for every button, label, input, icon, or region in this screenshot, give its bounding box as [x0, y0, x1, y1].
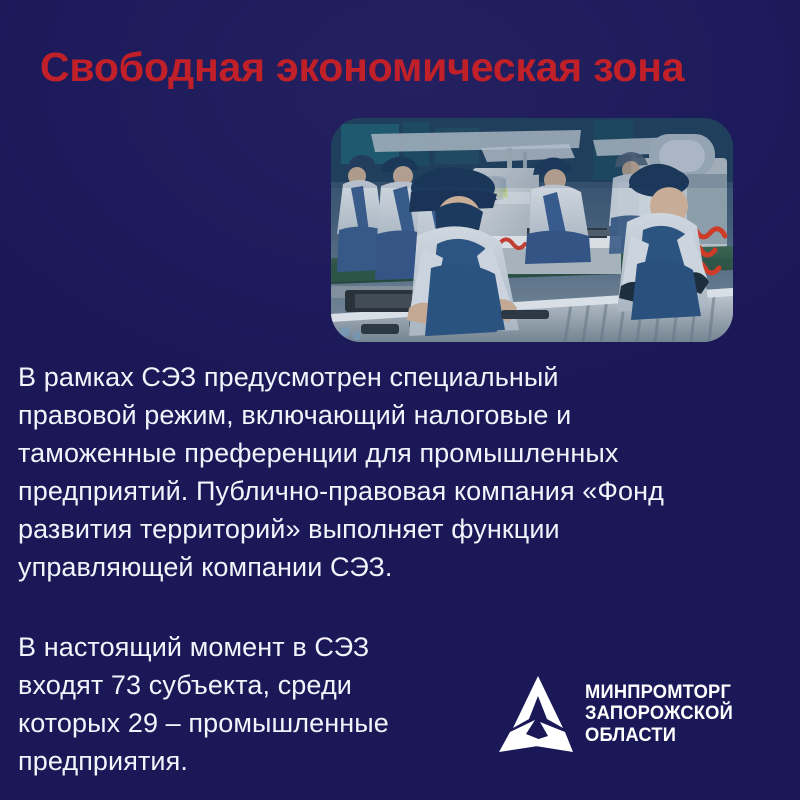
paragraph-line: управляющей компании СЭЗ.: [18, 548, 780, 586]
paragraph-line: входят 73 субъекта, среди: [18, 666, 468, 704]
paragraph-sez-description: В рамках СЭЗ предусмотрен специальный пр…: [18, 358, 780, 586]
paragraph-line: предприятия.: [18, 742, 468, 780]
page-title: Свободная экономическая зона: [40, 42, 760, 92]
paragraph-line: развития территорий» выполняет функции: [18, 510, 780, 548]
factory-photo: [331, 118, 733, 342]
paragraph-line: предприятий. Публично-правовая компания …: [18, 472, 780, 510]
poster-root: Свободная экономическая зона: [0, 0, 800, 800]
paragraph-line: правовой режим, включающий налоговые и: [18, 396, 780, 434]
paragraph-line: В настоящий момент в СЭЗ: [18, 628, 468, 666]
logo-text-line: ОБЛАСТИ: [585, 725, 733, 747]
ministry-logo-text: МИНПРОМТОРГ ЗАПОРОЖСКОЙ ОБЛАСТИ: [585, 682, 733, 747]
paragraph-line: В рамках СЭЗ предусмотрен специальный: [18, 358, 780, 396]
ministry-logo: МИНПРОМТОРГ ЗАПОРОЖСКОЙ ОБЛАСТИ: [493, 668, 783, 760]
paragraph-line: таможенные преференции для промышленных: [18, 434, 780, 472]
triangle-arrow-icon: [493, 670, 581, 758]
paragraph-line: которых 29 – промышленные: [18, 704, 468, 742]
factory-photo-image: [331, 118, 733, 342]
logo-text-line: ЗАПОРОЖСКОЙ: [585, 703, 733, 725]
logo-text-line: МИНПРОМТОРГ: [585, 682, 733, 704]
paragraph-sez-statistics: В настоящий момент в СЭЗ входят 73 субъе…: [18, 628, 468, 780]
